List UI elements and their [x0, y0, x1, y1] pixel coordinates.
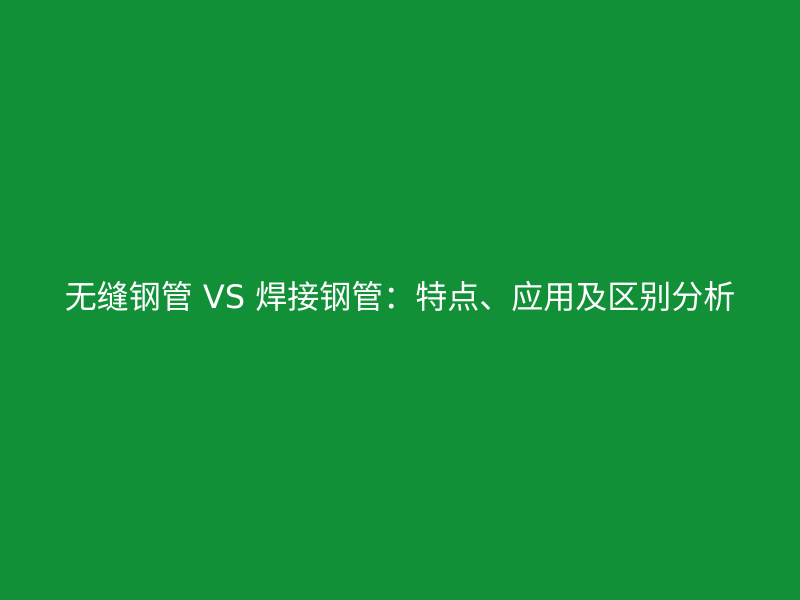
banner-title: 无缝钢管 VS 焊接钢管：特点、应用及区别分析 [0, 277, 800, 317]
banner-container: 无缝钢管 VS 焊接钢管：特点、应用及区别分析 [0, 0, 800, 600]
